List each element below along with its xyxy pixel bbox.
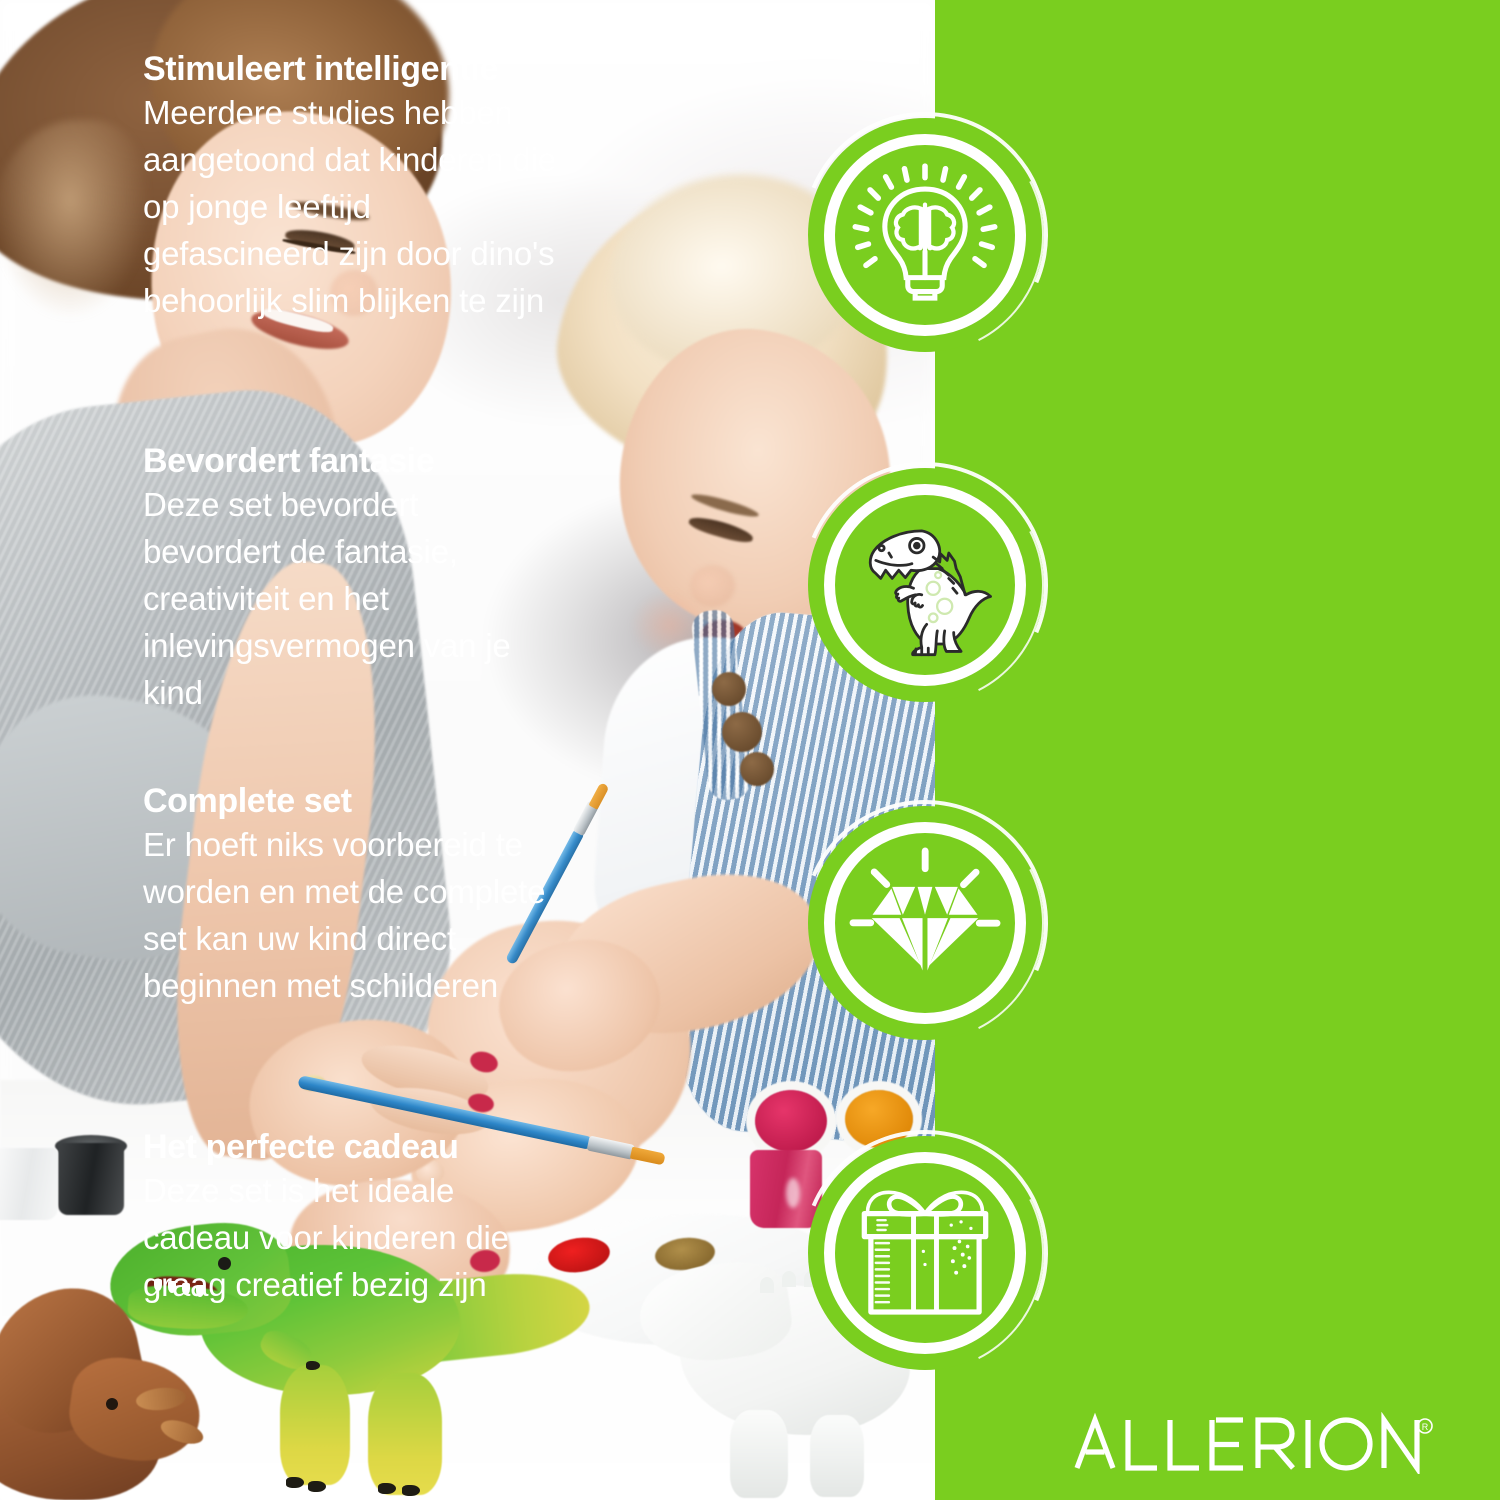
feature-2-title: Bevordert fantasie — [143, 442, 558, 480]
feature-2: Bevordert fantasie Deze set bevordert be… — [143, 442, 558, 716]
paint-pot-white — [0, 1148, 58, 1220]
child-nose — [690, 565, 735, 607]
feature-4: Het perfecte cadeau Deze set is het idea… — [143, 1128, 558, 1309]
mother-hair-wisp — [0, 120, 150, 320]
feature-3-body: Er hoeft niks voorbereid te worden en me… — [143, 822, 558, 1009]
paint-pot-highlight — [786, 1178, 800, 1208]
child-overall-clasp — [740, 752, 774, 786]
feature-icon-badge-3 — [802, 800, 1048, 1046]
feature-3-title: Complete set — [143, 782, 558, 820]
diamond-icon — [843, 841, 1007, 1005]
feature-4-body: Deze set is het ideale cadeau voor kinde… — [143, 1168, 558, 1309]
feature-1-title: Stimuleert intelligentie — [143, 50, 558, 88]
feature-4-title: Het perfecte cadeau — [143, 1128, 558, 1166]
feature-1-body: Meerdere studies hebben aangetoond dat k… — [143, 90, 558, 324]
feature-3: Complete set Er hoeft niks voorbereid te… — [143, 782, 558, 1010]
child-overall-clasp — [722, 712, 762, 752]
feature-1: Stimuleert intelligentie Meerdere studie… — [143, 50, 558, 324]
lightbulb-brain-icon — [843, 153, 1007, 317]
paint-pot-black — [58, 1143, 124, 1215]
svg-text:R: R — [1422, 1422, 1429, 1432]
feature-icon-badge-1 — [802, 112, 1048, 358]
gift-icon — [843, 1171, 1007, 1335]
infographic-page: Stimuleert intelligentie Meerdere studie… — [0, 0, 1500, 1500]
dinosaur-icon — [843, 503, 1007, 667]
feature-2-body: Deze set bevordert bevordert de fantasie… — [143, 482, 558, 716]
feature-icon-badge-2 — [802, 462, 1048, 708]
child-overall-clasp — [712, 672, 746, 706]
feature-icon-badge-4 — [802, 1130, 1048, 1376]
brand-logo: R — [1073, 1412, 1433, 1474]
painted-triceratops-toy — [0, 1290, 200, 1500]
